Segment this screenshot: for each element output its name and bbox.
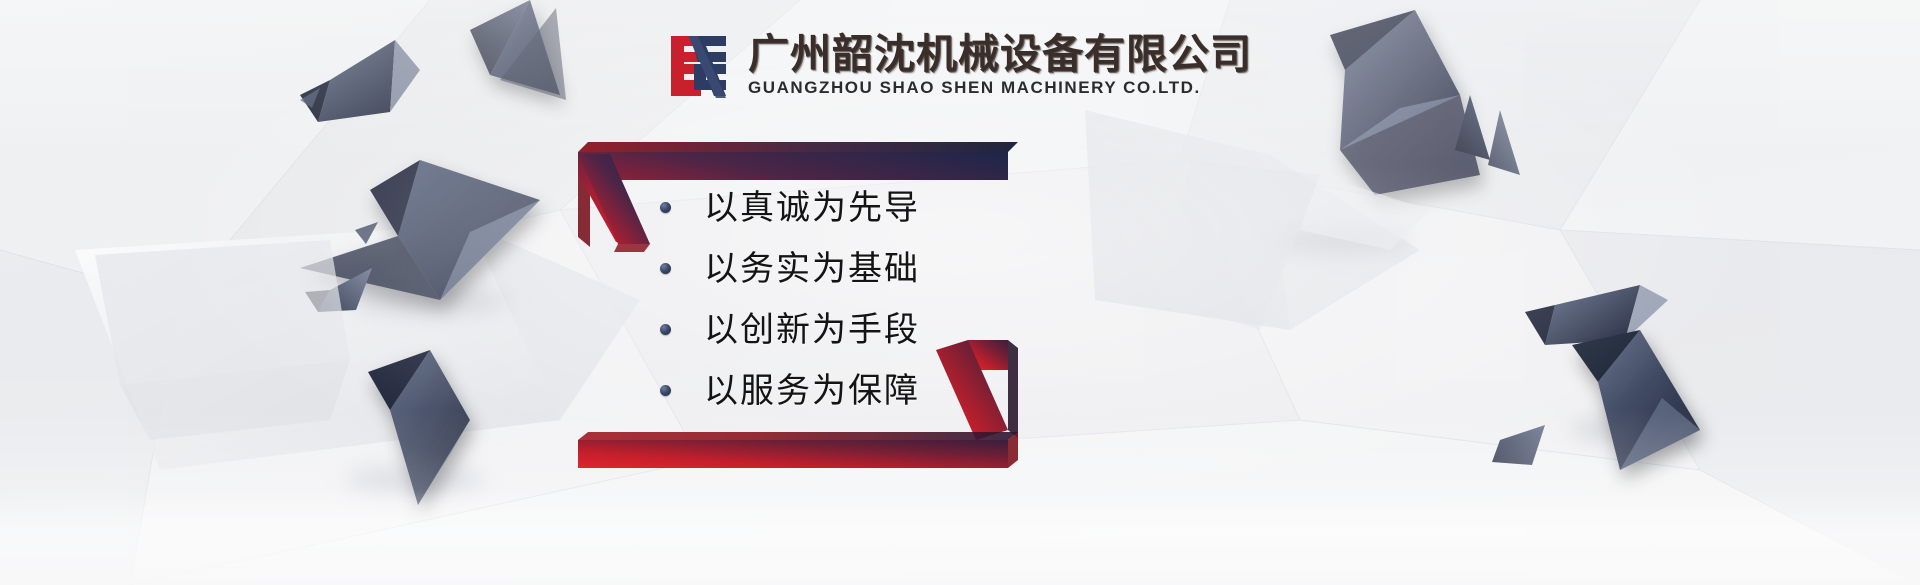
brand-header: 广州韶沈机械设备有限公司 GUANGZHOU SHAO SHEN MACHINE… (668, 32, 1252, 100)
company-name-en: GUANGZHOU SHAO SHEN MACHINERY CO.LTD. (748, 78, 1252, 98)
brand-text-block: 广州韶沈机械设备有限公司 GUANGZHOU SHAO SHEN MACHINE… (748, 34, 1252, 98)
company-name-cn: 广州韶沈机械设备有限公司 (748, 34, 1252, 76)
slogan-label: 以创新为手段 (704, 313, 920, 347)
polygon-sheet-left (95, 240, 350, 385)
slogan-label: 以服务为保障 (704, 374, 920, 408)
slogan-list: 以真诚为先导 以务实为基础 以创新为手段 以服务为保障 (660, 180, 1080, 424)
company-banner: 广州韶沈机械设备有限公司 GUANGZHOU SHAO SHEN MACHINE… (0, 0, 1920, 585)
ss-monogram-icon (668, 32, 730, 100)
slogan-label: 以真诚为先导 (704, 191, 920, 225)
bullet-dot-icon (660, 202, 671, 213)
slogan-label: 以务实为基础 (704, 252, 920, 286)
bullet-dot-icon (660, 324, 671, 335)
slogan-item: 以创新为手段 (660, 302, 1080, 357)
bullet-dot-icon (660, 385, 671, 396)
slogan-item: 以务实为基础 (660, 241, 1080, 296)
slogan-item: 以服务为保障 (660, 363, 1080, 418)
slogan-item: 以真诚为先导 (660, 180, 1080, 235)
bullet-dot-icon (660, 263, 671, 274)
